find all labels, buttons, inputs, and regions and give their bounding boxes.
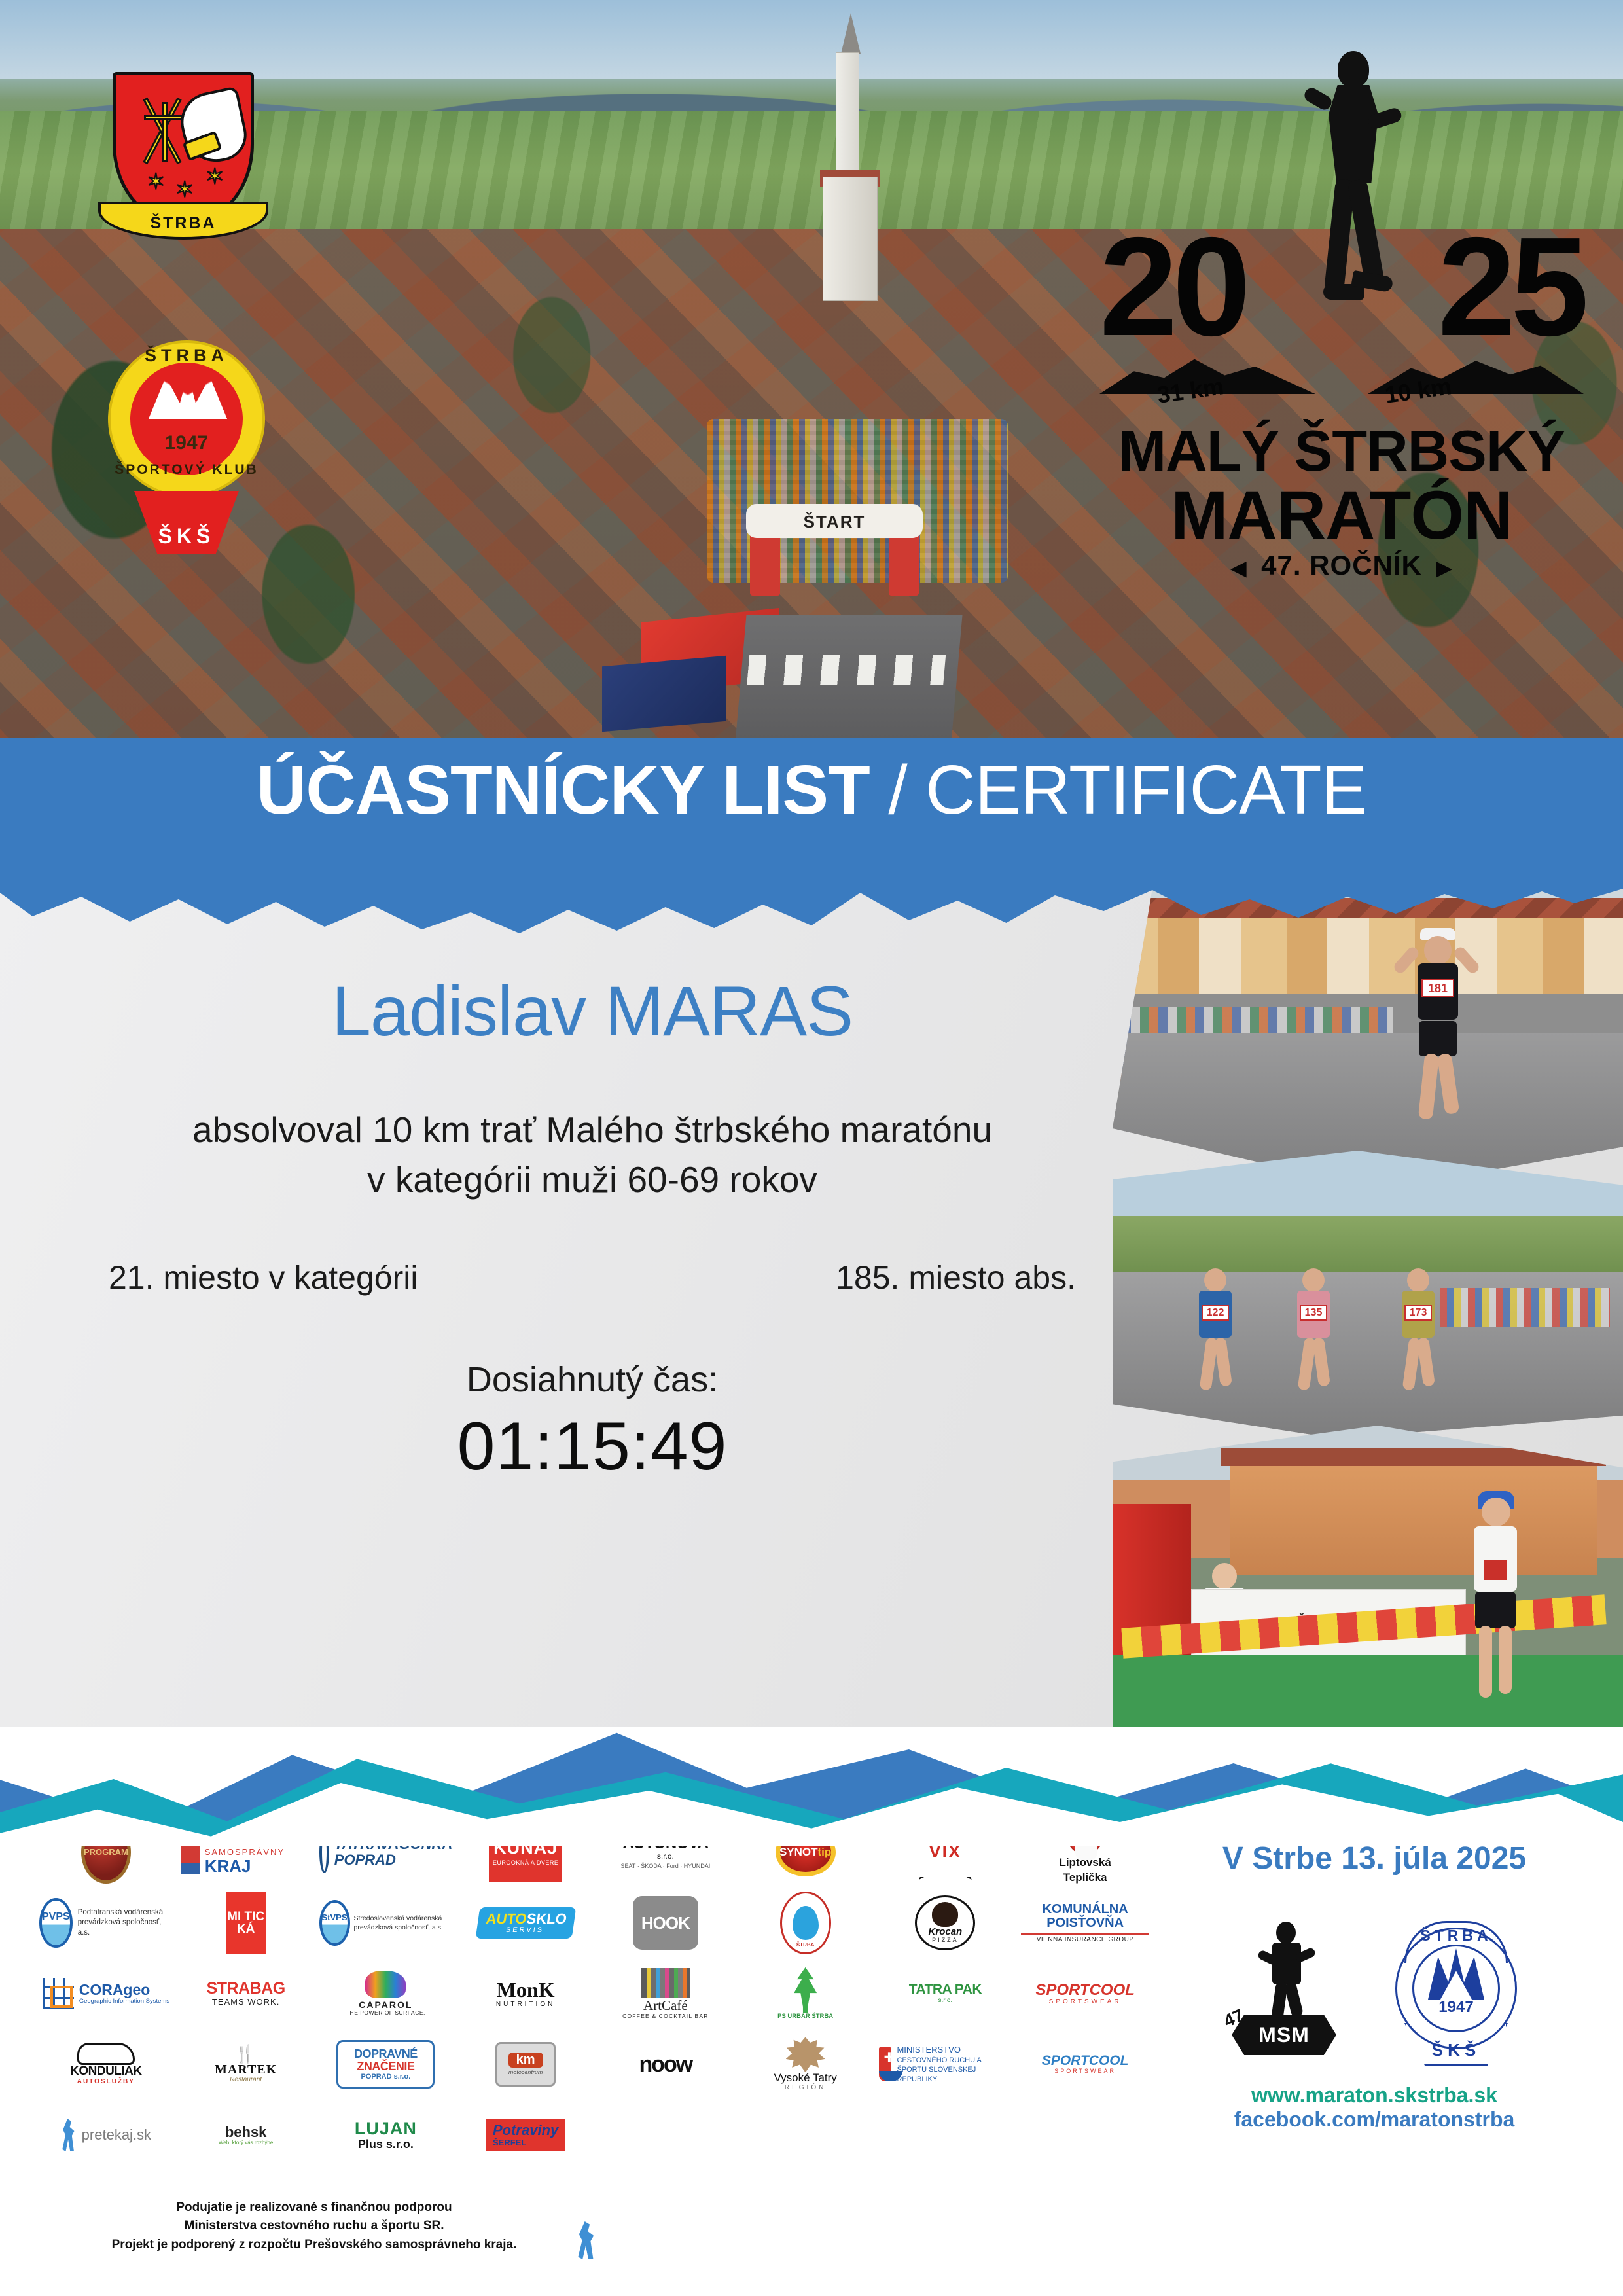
- sportcool-alt-name: SPORTCOOL: [1042, 2054, 1129, 2069]
- strabag-tagline: TEAMS WORK.: [212, 1998, 279, 2007]
- synot-b: tip: [818, 1846, 832, 1858]
- martek-name: MARTEK: [215, 2063, 277, 2077]
- caparol-name: CAPAROL: [359, 2000, 412, 2010]
- sports-club-emblem-icon: ŠTRBA 1947 ŠPORTOVÝ KLUB ŠKŠ: [108, 327, 265, 563]
- bib-number-finisher: 181: [1421, 979, 1454, 997]
- behsk-tagline: Web, ktorý vás rozhýbe: [219, 2140, 273, 2146]
- ps-urbar-name: PS URBÁR ŠTRBA: [777, 2013, 833, 2020]
- club-emblem-top-text: ŠTRBA: [108, 346, 265, 366]
- strabag-name: STRABAG: [207, 1980, 285, 1998]
- finish-time-value: 01:15:49: [79, 1408, 1106, 1486]
- sponsor-logo-hook[interactable]: HOOK: [599, 1892, 732, 1954]
- event-date: V Štrbe 13. júla 2025: [1152, 1840, 1597, 1876]
- church-building: [821, 13, 880, 301]
- sportcool-alt-sub: SPORTSWEAR: [1054, 2068, 1116, 2075]
- sponsor-logo-konduliak[interactable]: KONDULIAK AUTOSLUŽBY: [39, 2033, 173, 2096]
- bib-number-runner-a: 122: [1202, 1305, 1229, 1321]
- dopravne-line-2: ZNAČENIE: [357, 2060, 414, 2073]
- sponsor-logo-martek[interactable]: 🍴 MARTEK Restaurant: [179, 2033, 313, 2096]
- martek-sub: Restaurant: [230, 2077, 262, 2084]
- page-title: ÚČASTNÍCKY LIST / CERTIFICATE: [0, 755, 1623, 825]
- komunalna-line-3: VIENNA INSURANCE GROUP: [1037, 1937, 1134, 1944]
- tatrapak-name: TATRA PAK: [909, 1982, 982, 1998]
- dopravne-line-3: POPRAD s.r.o.: [361, 2073, 410, 2081]
- facebook-link[interactable]: facebook.com/maratonstrba: [1152, 2108, 1597, 2132]
- autonova-brands: SEAT · ŠKODA · Ford · HYUNDAI: [621, 1863, 711, 1870]
- monk-name: MonK: [497, 1979, 555, 2001]
- photo-female-finisher: 181: [1113, 882, 1623, 1190]
- lujan-name: LUJAN: [355, 2119, 417, 2138]
- sportcool-name: SPORTCOOL: [1035, 1982, 1135, 1999]
- autosklo-part-2: SKLO: [526, 1910, 568, 1927]
- category-place: 21. miesto v kategórii: [109, 1259, 418, 1297]
- tree-icon: [791, 1967, 821, 2013]
- club-emblem-tail: ŠKŠ: [134, 491, 239, 554]
- km-sub: motocentrum: [508, 2070, 543, 2076]
- caparol-tagline: THE POWER OF SURFACE.: [346, 2010, 425, 2016]
- sponsor-logo-sportcool[interactable]: SPORTCOOL SPORTSWEAR: [1018, 1962, 1152, 2025]
- photo-runners-on-course: 122 135 173: [1113, 1151, 1623, 1439]
- monk-sub: NUTRITION: [496, 2001, 555, 2009]
- pd-strba-town: ŠTRBA: [796, 1943, 815, 1948]
- pvps-full-name: Podtatranská vodárenská prevádzková spol…: [78, 1908, 173, 1939]
- sponsor-logo-miticka[interactable]: MI TIC KÁ: [226, 1892, 266, 1954]
- artcafe-sub: COFFEE & COCKTAIL BAR: [622, 2013, 708, 2019]
- msm-runner-icon: [1257, 1922, 1315, 2020]
- sponsor-logo-krocan-pizza[interactable]: Krocan PIZZA: [879, 1892, 1012, 1954]
- stvps-full-name: Stredoslovenská vodárenská prevádzková s…: [354, 1914, 453, 1932]
- funding-note-line-2: Ministerstva cestovného ruchu a športu S…: [46, 2217, 582, 2236]
- sks-stamp-logo: ŠTRBA 1947 ŠKŠ: [1387, 1918, 1525, 2062]
- funding-note: Podujatie je realizované s finančnou pod…: [46, 2198, 582, 2255]
- hook-name: HOOK: [641, 1914, 690, 1932]
- stvps-abbrev: StVPS: [322, 1913, 348, 1922]
- participant-name: Ladislav MARAS: [79, 974, 1106, 1048]
- absolute-place: 185. miesto abs.: [836, 1259, 1076, 1297]
- sponsor-logo-vysoke-tatry[interactable]: Vysoké Tatry REGIÓN: [739, 2033, 872, 2096]
- bib-number-runner-c: 173: [1404, 1305, 1432, 1321]
- title-slovak: ÚČASTNÍCKY LIST: [257, 751, 870, 829]
- sponsor-logo-autosklo-servis[interactable]: AUTOSKLO SERVIS: [459, 1892, 592, 1954]
- event-edition: 47. ROČNÍK: [1099, 550, 1584, 581]
- running-figure-icon: [61, 2119, 78, 2151]
- sponsor-logo-pvps[interactable]: PVPS Podtatranská vodárenská prevádzková…: [39, 1892, 173, 1954]
- event-year-right: 25: [1438, 229, 1584, 344]
- sponsor-logo-caparol[interactable]: CAPAROL THE POWER OF SURFACE.: [319, 1962, 453, 2025]
- title-separator: /: [870, 751, 925, 829]
- bib-number-runner-b: 135: [1300, 1305, 1327, 1321]
- sponsor-logo-stvps[interactable]: StVPS Stredoslovenská vodárenská prevádz…: [319, 1892, 453, 1954]
- footer-logo-row: 47. MSM ŠTRBA 1947 ŠKŠ: [1152, 1918, 1597, 2062]
- coat-of-arms-town-name: ŠTRBA: [150, 214, 216, 233]
- vysoke-tatry-sub: REGIÓN: [785, 2085, 826, 2092]
- sponsor-logo-artcafe[interactable]: ArtCafé COFFEE & COCKTAIL BAR: [599, 1962, 732, 2025]
- certificate-description: absolvoval 10 km trať Malého štrbského m…: [79, 1105, 1106, 1205]
- sponsor-logo-pretekaj[interactable]: pretekaj.sk: [39, 2104, 173, 2166]
- vysoke-tatry-name: Vysoké Tatry: [774, 2072, 836, 2084]
- footer-right-block: V Štrbe 13. júla 2025 47. MSM ŠTRBA 1947…: [1152, 1817, 1597, 2132]
- certificate-title-banner: ÚČASTNÍCKY LIST / CERTIFICATE: [0, 738, 1623, 882]
- sponsor-logo-ministerstvo[interactable]: MINISTERSTVO CESTOVNÉHO RUCHU A ŠPORTU S…: [879, 2033, 1012, 2096]
- km-badge: km: [508, 2053, 543, 2068]
- strba-coat-of-arms-icon: ŠTRBA: [113, 72, 254, 223]
- sponsor-logo-noow[interactable]: noow: [599, 2033, 732, 2096]
- sponsor-logo-komunalna-poistovna[interactable]: KOMUNÁLNA POISŤOVŇA VIENNA INSURANCE GRO…: [1018, 1892, 1152, 1954]
- sks-abbrev: ŠKŠ: [1432, 2040, 1480, 2060]
- edelweiss-icon: [786, 2037, 825, 2072]
- start-arch: ŠTART: [746, 504, 923, 596]
- finish-time-label: Dosiahnutý čas:: [79, 1359, 1106, 1400]
- funding-note-line-3: Projekt je podporený z rozpočtu Prešovsk…: [46, 2236, 582, 2255]
- description-line-1: absolvoval 10 km trať Malého štrbského m…: [79, 1105, 1106, 1155]
- club-emblem-bottom-text: ŠPORTOVÝ KLUB: [108, 462, 265, 478]
- sponsor-logo-potraviny-serfel[interactable]: Potraviny ŠERFEL: [459, 2104, 592, 2166]
- krocan-name: Krocan: [929, 1927, 963, 1937]
- water-drop-icon: [793, 1906, 819, 1940]
- artcafe-name: ArtCafé: [643, 1998, 688, 2013]
- tatrapak-suffix: s.r.o.: [938, 1998, 953, 2005]
- club-emblem-abbrev: ŠKŠ: [158, 524, 215, 548]
- sponsor-logo-grid: PROGRAM PREŠOVSKÝ SAMOSPRÁVNY KRAJ TATRA…: [39, 1820, 1152, 2168]
- sponsor-logo-corageo[interactable]: CORAgeo Geographic Information Systems: [39, 1962, 173, 2025]
- synot-a: SYNOT: [779, 1846, 818, 1858]
- photo-collage: 181 122 135 173 MALÝ ŠTRBSKÝ MARATÓN: [1113, 882, 1623, 1727]
- car-outline-icon: [77, 2043, 135, 2065]
- behsk-name: behsk: [225, 2125, 267, 2140]
- event-year: 20 25: [1099, 229, 1584, 344]
- website-link[interactable]: www.maraton.skstrba.sk: [1152, 2083, 1597, 2108]
- funding-note-line-1: Podujatie je realizované s finančnou pod…: [46, 2198, 582, 2217]
- event-year-left: 20: [1099, 229, 1245, 344]
- sks-top-text: ŠTRBA: [1420, 1927, 1491, 1945]
- tatravagonka-line-2: POPRAD: [334, 1852, 452, 1868]
- sportcool-sub: SPORTSWEAR: [1049, 1999, 1122, 2006]
- start-arch-label: ŠTART: [746, 512, 923, 532]
- lujan-sub: Plus s.r.o.: [358, 2138, 414, 2151]
- noow-name: noow: [639, 2053, 692, 2077]
- slovak-coat-of-arms-icon: [879, 2047, 892, 2081]
- event-name-line2: MARATÓN: [1099, 476, 1584, 555]
- konduliak-sub: AUTOSLUŽBY: [77, 2079, 135, 2086]
- corageo-grid-icon: [43, 1978, 74, 2009]
- mountain-distance-row: 31 km 10 km: [1099, 353, 1584, 412]
- sponsor-logo-lujan-plus[interactable]: LUJAN Plus s.r.o.: [319, 2104, 453, 2166]
- corageo-name: CORAgeo: [79, 1982, 169, 1998]
- sponsor-logo-behsk[interactable]: behsk Web, ktorý vás rozhýbe: [179, 2104, 313, 2166]
- artcafe-bars-icon: [641, 1968, 690, 1998]
- cutlery-icon: 🍴: [234, 2045, 257, 2063]
- club-emblem-year: 1947: [108, 432, 265, 454]
- placement-row: 21. miesto v kategórii 185. miesto abs.: [79, 1259, 1106, 1297]
- sponsor-program-name: PROGRAM: [84, 1848, 128, 1857]
- autonova-suffix: s.r.o.: [657, 1852, 674, 1861]
- distance-short-label: 10 km: [1383, 372, 1454, 409]
- autosklo-part-1: AUTO: [485, 1910, 527, 1927]
- sponsor-logo-pd-strba[interactable]: ŠTRBA: [739, 1892, 872, 1954]
- sponsor-logo-sportcool-alt[interactable]: SPORTCOOL SPORTSWEAR: [1018, 2033, 1152, 2096]
- dopravne-line-1: DOPRAVNÉ: [354, 2048, 418, 2060]
- presovsky-line-3: KRAJ: [205, 1857, 311, 1875]
- blue-tent: [602, 656, 726, 732]
- krocan-sub: PIZZA: [932, 1937, 959, 1944]
- konduliak-name: KONDULIAK: [70, 2065, 142, 2079]
- kunaj-tagline: EUROOKNÁ A DVERE: [493, 1860, 559, 1867]
- sponsor-logo-strabag[interactable]: STRABAG TEAMS WORK.: [179, 1962, 313, 2025]
- komunalna-line-2: POISŤOVŇA: [1046, 1916, 1124, 1931]
- sponsor-logo-tatrapak[interactable]: TATRA PAK s.r.o.: [879, 1962, 1012, 2025]
- sponsor-logo-dopravne-znacenie[interactable]: DOPRAVNÉ ZNAČENIE POPRAD s.r.o.: [336, 2040, 435, 2089]
- footer: PROGRAM PREŠOVSKÝ SAMOSPRÁVNY KRAJ TATRA…: [0, 1806, 1623, 2296]
- autosklo-sub: SERVIS: [484, 1927, 565, 1935]
- title-english: CERTIFICATE: [925, 751, 1366, 829]
- event-logo: 20 25 31 km 10 km MALÝ ŠTRBSKÝ MARATÓN 4…: [1099, 39, 1584, 569]
- msm-abbrev: MSM: [1258, 2023, 1310, 2047]
- potraviny-sub: ŠERFEL: [493, 2138, 526, 2147]
- event-name-line1: MALÝ ŠTRBSKÝ: [1099, 418, 1584, 484]
- sks-year: 1947: [1387, 1998, 1525, 2017]
- potraviny-name: Potraviny: [493, 2123, 558, 2138]
- sponsor-logo-ps-urbar-strba[interactable]: PS URBÁR ŠTRBA: [739, 1962, 872, 2025]
- msm-logo: 47. MSM: [1224, 1922, 1342, 2059]
- liptovska-line-2: Teplička: [1063, 1872, 1107, 1884]
- certificate-text-block: Ladislav MARAS absolvoval 10 km trať Mal…: [79, 974, 1106, 1486]
- mountain-divider: [0, 1676, 1623, 1846]
- sponsor-logo-monk-nutrition[interactable]: MonK NUTRITION: [459, 1962, 592, 2025]
- description-line-2: v kategórii muži 60-69 rokov: [79, 1155, 1106, 1205]
- corageo-tagline: Geographic Information Systems: [79, 1998, 169, 2005]
- ministerstvo-line-2: CESTOVNÉHO RUCHU A ŠPORTU SLOVENSKEJ REP…: [897, 2056, 1012, 2084]
- komunalna-line-1: KOMUNÁLNA: [1043, 1903, 1128, 1917]
- turkey-icon: [932, 1902, 958, 1927]
- ministerstvo-line-1: MINISTERSTVO: [897, 2045, 1012, 2056]
- pretekaj-name: pretekaj.sk: [82, 2127, 151, 2143]
- miticka-name: MI TIC KÁ: [226, 1910, 266, 1935]
- sponsor-logo-km-motocentrum[interactable]: km motocentrum: [459, 2033, 592, 2096]
- pvps-abbrev: PVPS: [42, 1911, 70, 1922]
- presovsky-line-2: SAMOSPRÁVNY: [205, 1848, 311, 1857]
- caparol-elephant-icon: [365, 1971, 406, 1998]
- footer-links: www.maraton.skstrba.sk facebook.com/mara…: [1152, 2083, 1597, 2132]
